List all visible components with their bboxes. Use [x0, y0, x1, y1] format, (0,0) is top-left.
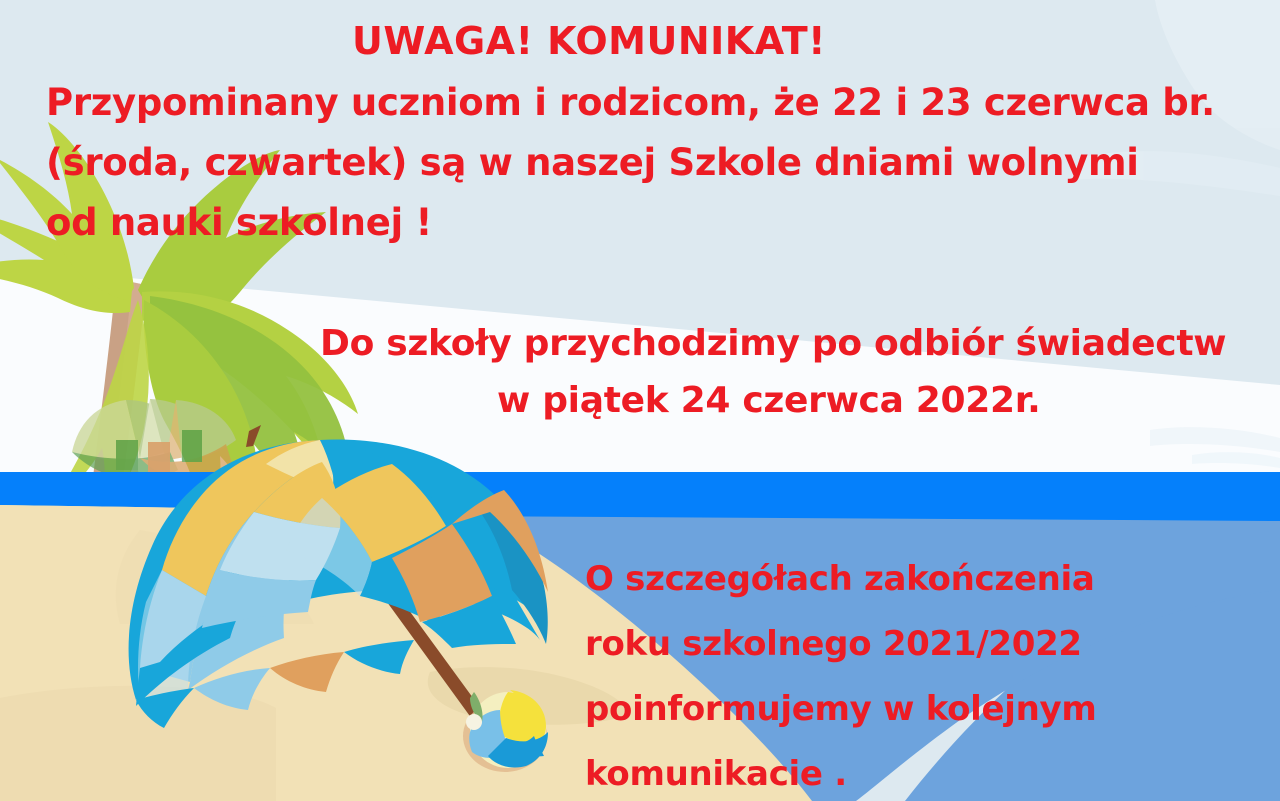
paragraph3-line3: poinformujemy w kolejnym — [585, 692, 1097, 726]
paragraph3-line2: roku szkolnego 2021/2022 — [585, 627, 1082, 661]
announcement-poster: UWAGA! KOMUNIKAT! Przypominany uczniom i… — [0, 0, 1280, 801]
paragraph1-line2: (środa, czwartek) są w naszej Szkole dni… — [46, 144, 1139, 181]
paragraph1-line3: od nauki szkolnej ! — [46, 204, 432, 241]
paragraph3-line4: komunikacie . — [585, 757, 847, 791]
poster-text-layer: UWAGA! KOMUNIKAT! Przypominany uczniom i… — [0, 0, 1280, 801]
paragraph3-line1: O szczegółach zakończenia — [585, 562, 1095, 596]
poster-heading: UWAGA! KOMUNIKAT! — [352, 22, 826, 60]
paragraph2-line1: Do szkoły przychodzimy po odbiór świadec… — [320, 326, 1226, 362]
paragraph1-line1: Przypominany uczniom i rodzicom, że 22 i… — [46, 84, 1215, 121]
paragraph2-line2: w piątek 24 czerwca 2022r. — [497, 383, 1041, 419]
